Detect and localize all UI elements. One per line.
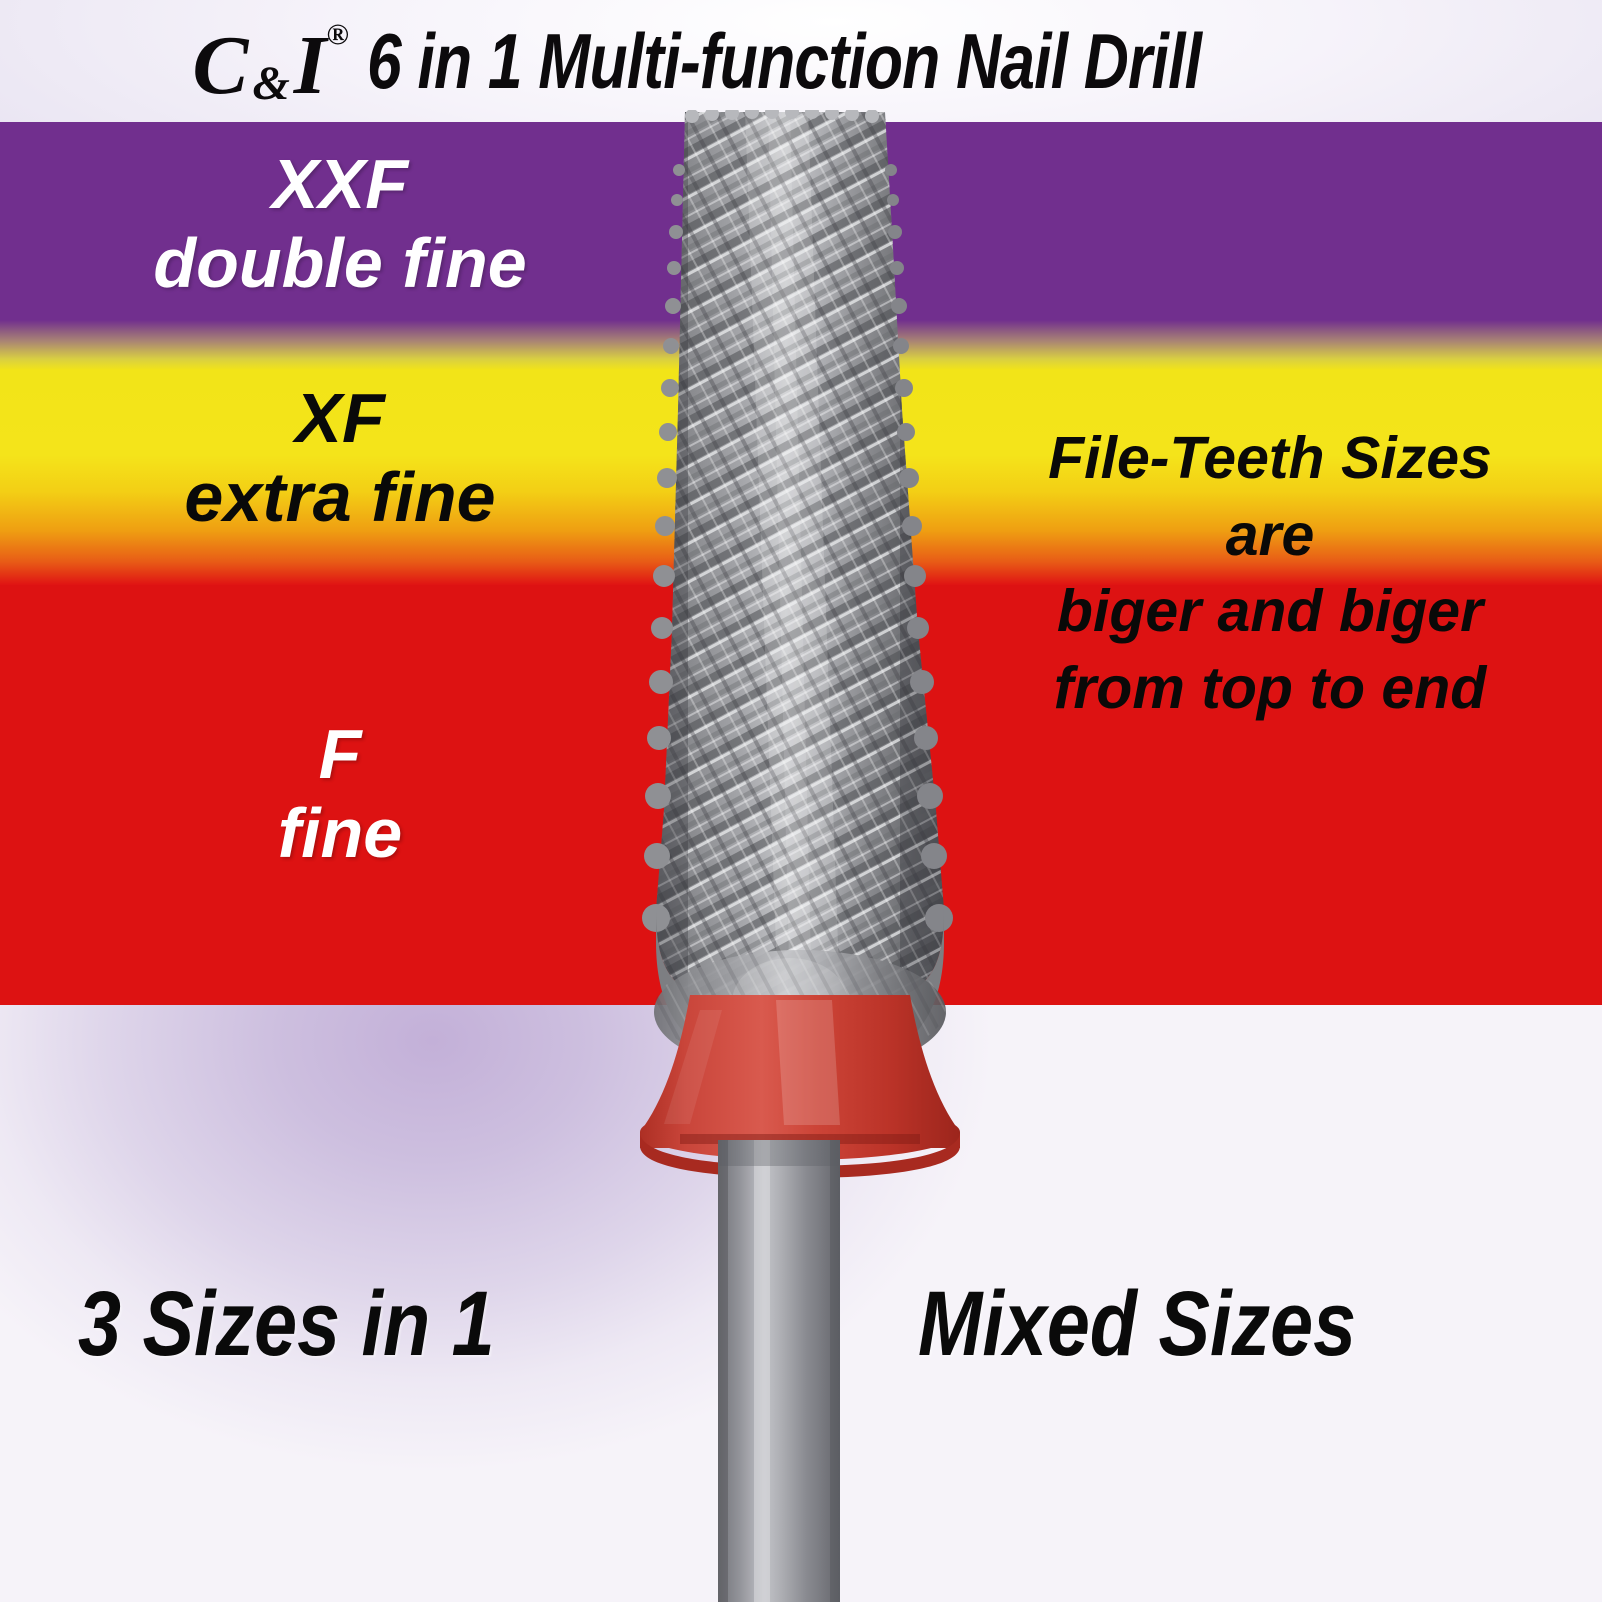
brand-ampersand: & [248, 57, 293, 110]
registered-trademark-icon: ® [326, 18, 348, 51]
grade-abbr-xxf: XXF [60, 148, 620, 221]
caption-three-sizes-in-one: 3 Sizes in 1 [78, 1272, 495, 1377]
title-subtext: 6 in 1 Multi-function Nail Drill [367, 16, 1201, 107]
grade-name-xxf: double fine [60, 227, 620, 300]
brand-letter-c: C [192, 19, 248, 112]
grade-label-xf: XF extra fine [60, 382, 620, 534]
grade-abbr-xf: XF [60, 382, 620, 455]
carbide-bit-head [630, 110, 992, 1074]
grade-label-f: F fine [60, 718, 620, 870]
nail-drill-bit-image [540, 110, 1060, 1602]
drill-shank [718, 1140, 840, 1602]
brand-letter-i: I [294, 19, 327, 112]
grade-name-f: fine [60, 797, 620, 870]
product-poster: C&I® 6 in 1 Multi-function Nail Drill XX… [0, 0, 1602, 1602]
grade-label-xxf: XXF double fine [60, 148, 620, 300]
grade-name-xf: extra fine [60, 461, 620, 534]
brand-logo: C&I® [192, 17, 349, 114]
page-title: C&I® 6 in 1 Multi-function Nail Drill [0, 0, 1602, 122]
grade-abbr-f: F [60, 718, 620, 791]
